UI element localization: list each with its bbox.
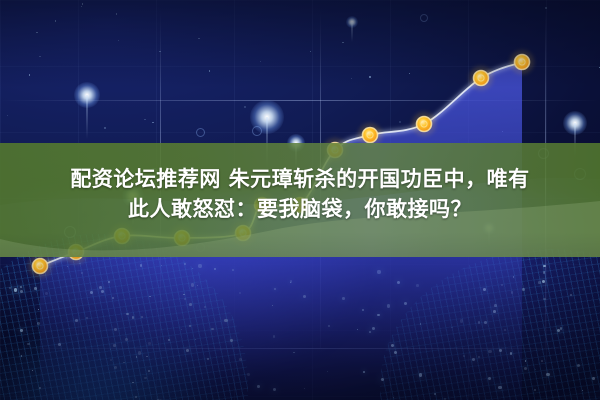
vignette-overlay bbox=[0, 0, 600, 400]
image-canvas: 配资论坛推荐网 朱元璋斩杀的开国功臣中，唯有 此人敢怒怼：要我脑袋，你敢接吗？ bbox=[0, 0, 600, 400]
